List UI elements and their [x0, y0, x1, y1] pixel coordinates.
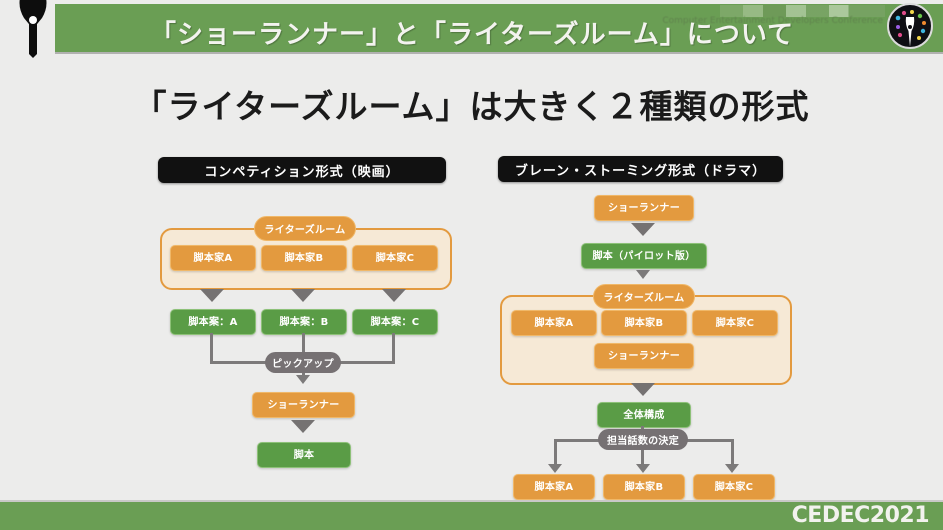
right-showrunner-in-room: ショーランナー: [594, 343, 694, 369]
right-bottom-writer-c: 脚本家C: [693, 474, 775, 500]
header-bar: Computer Entertainment Developers Confer…: [55, 4, 943, 52]
right-writer-b: 脚本家B: [601, 310, 687, 336]
left-writers-room-label: ライターズルーム: [254, 216, 356, 241]
cedec-logo-icon: [887, 3, 933, 49]
header-title: 「ショーランナー」と「ライターズルーム」について: [150, 14, 794, 51]
right-bottom-writer-a: 脚本家A: [513, 474, 595, 500]
left-draft-b: 脚本案：B: [261, 309, 347, 335]
left-showrunner: ショーランナー: [252, 392, 355, 418]
left-arrow-b: [291, 289, 315, 302]
page-title: 「ライターズルーム」は大きく２種類の形式: [0, 80, 943, 128]
left-draft-c: 脚本案：C: [352, 309, 438, 335]
right-bottom-writer-b: 脚本家B: [603, 474, 685, 500]
right-writers-room-label: ライターズルーム: [593, 284, 695, 309]
left-connector-c-v: [392, 333, 395, 361]
right-arrow-out-c: [725, 464, 739, 473]
right-writer-c: 脚本家C: [692, 310, 778, 336]
right-arrow-2: [636, 270, 650, 279]
left-arrow-a: [200, 289, 224, 302]
left-arrow-pickup-down: [296, 375, 310, 384]
left-draft-a: 脚本案：A: [170, 309, 256, 335]
slide-canvas: Computer Entertainment Developers Confer…: [0, 0, 943, 530]
footer-brand: CEDEC2021: [792, 503, 929, 528]
right-overall-structure: 全体構成: [597, 402, 691, 428]
right-arrow-3: [631, 383, 655, 396]
right-connector-left-v: [554, 439, 557, 466]
left-arrow-c: [382, 289, 406, 302]
left-writer-c: 脚本家C: [352, 245, 438, 271]
left-final-script: 脚本: [257, 442, 351, 468]
right-arrow-out-b: [636, 464, 650, 473]
left-arrow-to-final: [291, 420, 315, 433]
right-showrunner-top: ショーランナー: [594, 195, 694, 221]
left-pickup-pill: ピックアップ: [265, 352, 341, 373]
right-connector-right-v: [731, 439, 734, 466]
section-header-right: ブレーン・ストーミング形式（ドラマ）: [498, 156, 783, 182]
footer-bar: CEDEC2021: [0, 500, 943, 530]
right-arrow-1: [631, 223, 655, 236]
left-writer-b: 脚本家B: [261, 245, 347, 271]
right-writer-a: 脚本家A: [511, 310, 597, 336]
pen-nib-icon: [8, 0, 58, 58]
right-assignment-pill: 担当話数の決定: [598, 429, 688, 450]
left-writer-a: 脚本家A: [170, 245, 256, 271]
left-connector-a-v: [210, 333, 213, 361]
section-header-left: コンペティション形式（映画）: [158, 157, 446, 183]
right-arrow-out-a: [548, 464, 562, 473]
right-pilot-script: 脚本（パイロット版）: [581, 243, 707, 269]
